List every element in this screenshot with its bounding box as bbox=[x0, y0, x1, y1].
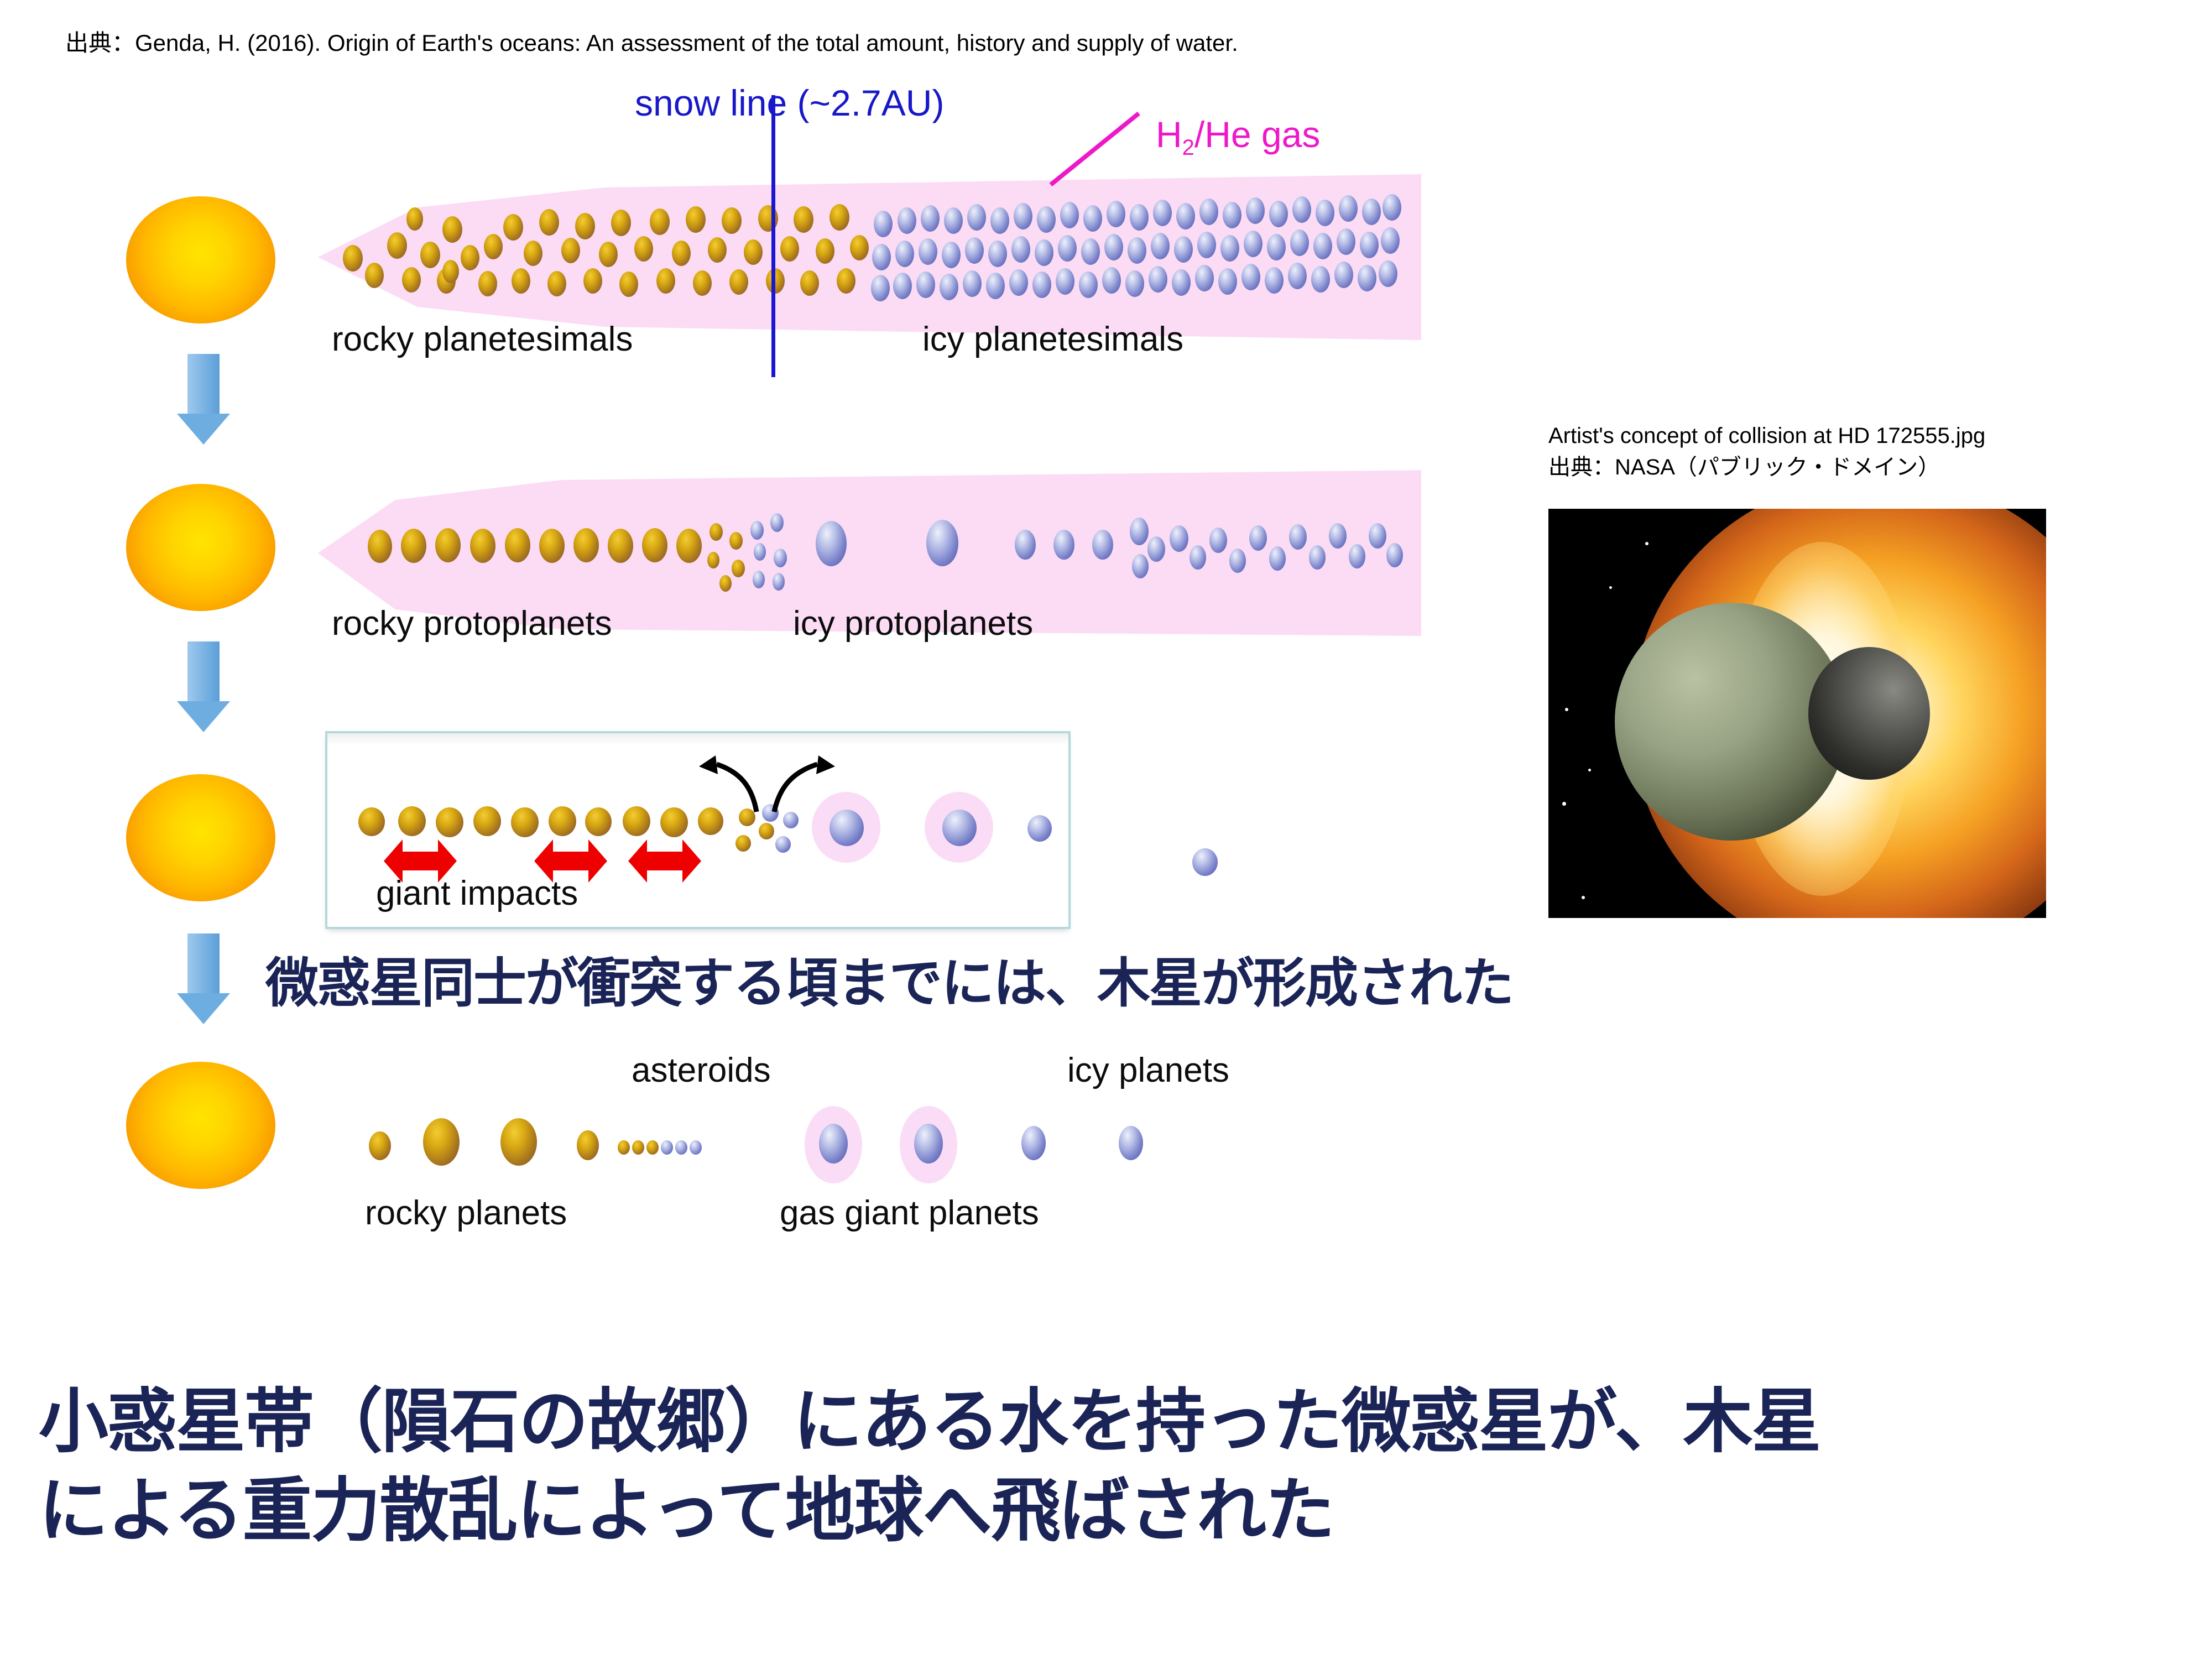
nasa-collision-image bbox=[1548, 509, 2046, 918]
label-rocky-planetesimals: rocky planetesimals bbox=[332, 320, 633, 359]
nasa-image-caption: Artist's concept of collision at HD 1725… bbox=[1548, 420, 1985, 483]
sun-stage-2 bbox=[126, 484, 275, 611]
stage-arrow-1 bbox=[177, 354, 230, 445]
bottom-caption: 小惑星帯（隕石の故郷）にある水を持った微惑星が、木星 による重力散乱によって地球… bbox=[39, 1377, 1820, 1556]
label-icy-planetesimals: icy planetesimals bbox=[922, 320, 1183, 359]
impact-arrow-3 bbox=[628, 839, 701, 883]
label-gas-giant-planets: gas giant planets bbox=[780, 1193, 1039, 1233]
label-asteroids: asteroids bbox=[632, 1051, 771, 1090]
snow-line-marker bbox=[771, 95, 775, 377]
label-icy-planets: icy planets bbox=[1067, 1051, 1229, 1090]
gas-label-main: H bbox=[1156, 114, 1182, 155]
label-rocky-planets: rocky planets bbox=[365, 1193, 567, 1233]
source-citation: 出典：Genda, H. (2016). Origin of Earth's o… bbox=[65, 24, 1238, 58]
nasa-caption-line-1: Artist's concept of collision at HD 1725… bbox=[1548, 420, 1985, 452]
planetesimal-field bbox=[318, 174, 1421, 340]
impactor-body bbox=[1808, 647, 1930, 780]
gas-label: H2/He gas bbox=[1156, 113, 1320, 160]
nasa-caption-line-2: 出典：NASA（パブリック・ドメイン） bbox=[1548, 452, 1985, 483]
sun-stage-4 bbox=[126, 1062, 275, 1189]
bottom-caption-line-1: 小惑星帯（隕石の故郷）にある水を持った微惑星が、木星 bbox=[39, 1377, 1820, 1466]
gas-label-rest: /He gas bbox=[1194, 114, 1320, 155]
snow-line-label: snow line (~2.7AU) bbox=[635, 82, 944, 124]
stage-arrow-2 bbox=[177, 641, 230, 732]
middle-caption: 微惑星同士が衝突する頃までには、木星が形成された bbox=[265, 940, 1513, 1017]
stage-arrow-3 bbox=[177, 933, 230, 1024]
gas-label-sub: 2 bbox=[1182, 135, 1194, 160]
label-giant-impacts: giant impacts bbox=[376, 874, 578, 913]
label-icy-protoplanets: icy protoplanets bbox=[793, 604, 1033, 643]
bottom-caption-line-2: による重力散乱によって地球へ飛ばされた bbox=[39, 1466, 1820, 1555]
sun-stage-3 bbox=[126, 774, 275, 901]
sun-stage-1 bbox=[126, 196, 275, 324]
icy-body-outer bbox=[1192, 848, 1218, 876]
label-rocky-protoplanets: rocky protoplanets bbox=[332, 604, 612, 643]
